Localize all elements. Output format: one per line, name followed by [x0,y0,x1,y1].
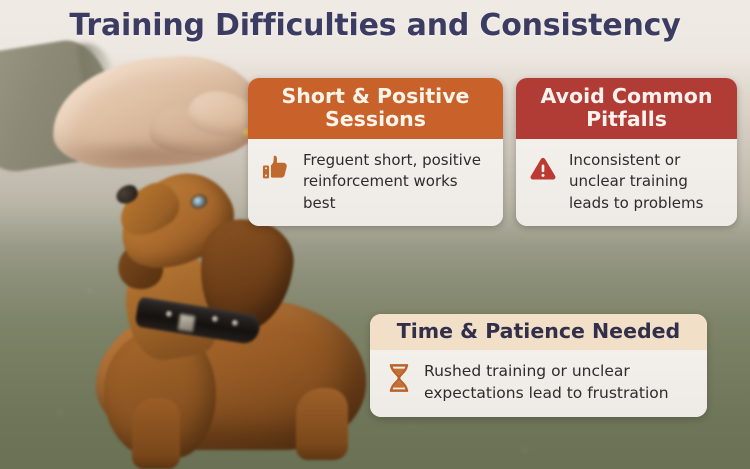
dog-front-leg [132,398,180,469]
card-time-patience-needed: Time & Patience Needed Rushed training o… [370,314,707,417]
hand-shadow [60,140,220,168]
warning-triangle-icon [527,153,559,185]
card-header-short-positive-sessions: Short & Positive Sessions [248,78,503,139]
collar-buckle [177,313,197,333]
infographic-canvas: Training Difficulties and Consistency Sh… [0,0,750,469]
card-short-positive-sessions: Short & Positive Sessions Freguent short… [248,78,503,226]
card-header-avoid-common-pitfalls: Avoid Common Pitfalls [516,78,737,139]
card-body-time-patience-needed: Rushed training or unclear expectations … [370,350,707,417]
page-title: Training Difficulties and Consistency [0,8,750,43]
card-text-avoid-common-pitfalls: Inconsistent or unclear training leads t… [569,150,725,214]
card-header-time-patience-needed: Time & Patience Needed [370,314,707,350]
dog-hind-leg [296,388,348,460]
hourglass-icon [384,361,414,395]
card-body-short-positive-sessions: Freguent short, positive reinforcement w… [248,139,503,226]
card-avoid-common-pitfalls: Avoid Common Pitfalls Inconsistent or un… [516,78,737,226]
card-text-time-patience-needed: Rushed training or unclear expectations … [424,360,695,404]
card-body-avoid-common-pitfalls: Inconsistent or unclear training leads t… [516,139,737,226]
card-text-short-positive-sessions: Freguent short, positive reinforcement w… [303,150,491,214]
thumbs-up-icon [259,152,293,186]
